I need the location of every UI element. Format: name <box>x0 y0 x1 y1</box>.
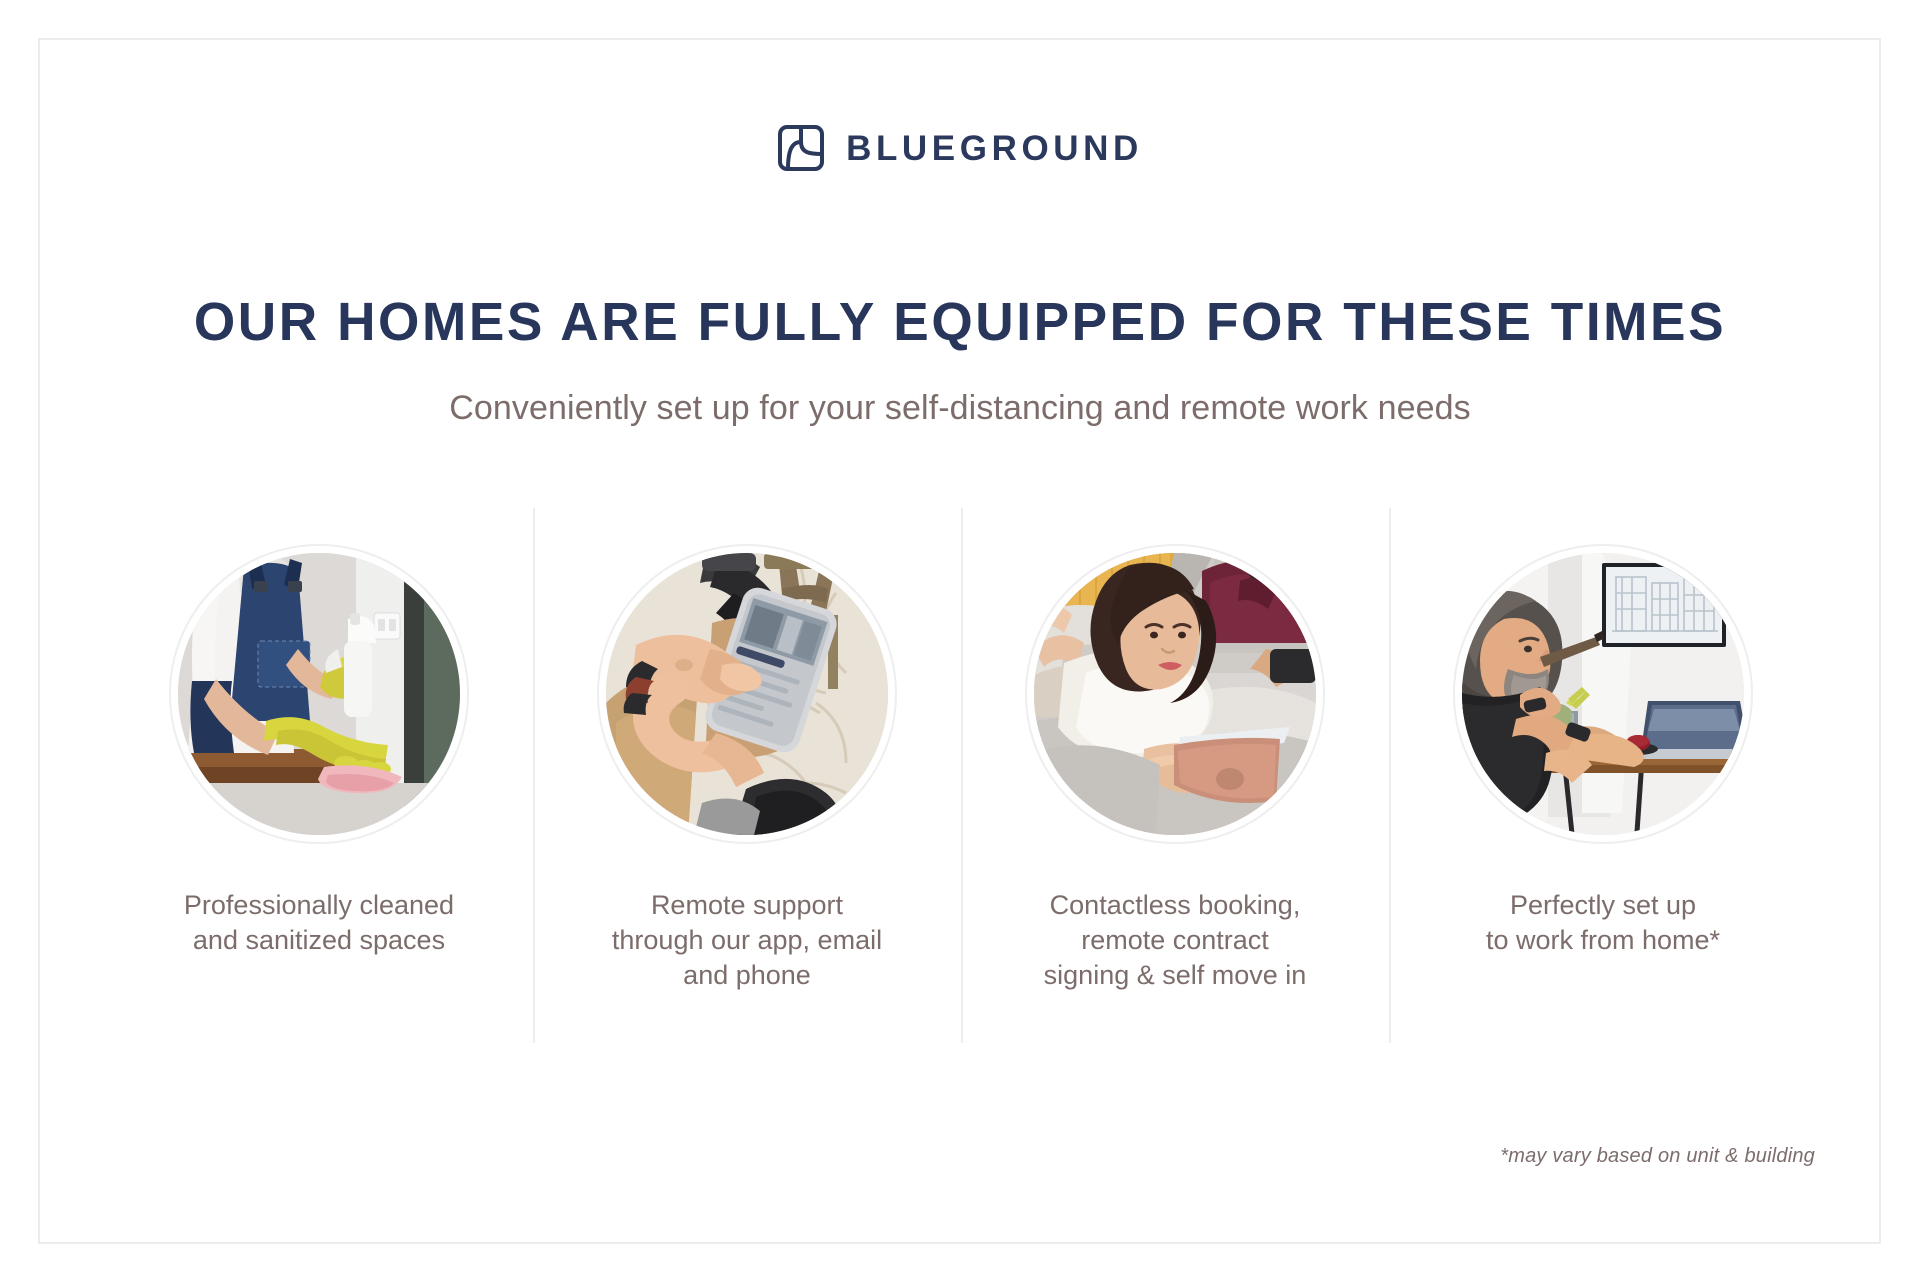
footnote-disclaimer: *may vary based on unit & building <box>1500 1145 1815 1168</box>
feature-item-work-from-home: Perfectly set up to work from home* <box>1389 508 1817 1068</box>
feature-caption: Perfectly set up to work from home* <box>1438 888 1768 958</box>
brand-wordmark: BLUEGROUND <box>846 131 1143 166</box>
page-title: OUR HOMES ARE FULLY EQUIPPED FOR THESE T… <box>14 291 1905 353</box>
photo-ring <box>597 544 897 844</box>
blueground-logo-icon <box>777 124 825 172</box>
photo-ring <box>169 544 469 844</box>
feature-item-cleaning: Professionally cleaned and sanitized spa… <box>105 508 533 1068</box>
feature-photo-remote-support <box>606 553 888 835</box>
feature-row: Professionally cleaned and sanitized spa… <box>105 508 1817 1068</box>
brand-lockup: BLUEGROUND <box>0 124 1920 172</box>
feature-item-remote-support: Remote support through our app, email an… <box>533 508 961 1068</box>
feature-photo-work-from-home <box>1462 553 1744 835</box>
feature-item-contactless-booking: Contactless booking, remote contract sig… <box>961 508 1389 1068</box>
feature-photo-cleaning <box>178 553 460 835</box>
feature-caption: Remote support through our app, email an… <box>582 888 912 992</box>
feature-photo-contactless-booking <box>1034 553 1316 835</box>
poster-page: BLUEGROUND OUR HOMES ARE FULLY EQUIPPED … <box>0 0 1920 1280</box>
photo-ring <box>1453 544 1753 844</box>
photo-ring <box>1025 544 1325 844</box>
page-subtitle: Conveniently set up for your self-distan… <box>0 389 1920 428</box>
feature-caption: Professionally cleaned and sanitized spa… <box>154 888 484 958</box>
feature-caption: Contactless booking, remote contract sig… <box>1010 888 1340 992</box>
